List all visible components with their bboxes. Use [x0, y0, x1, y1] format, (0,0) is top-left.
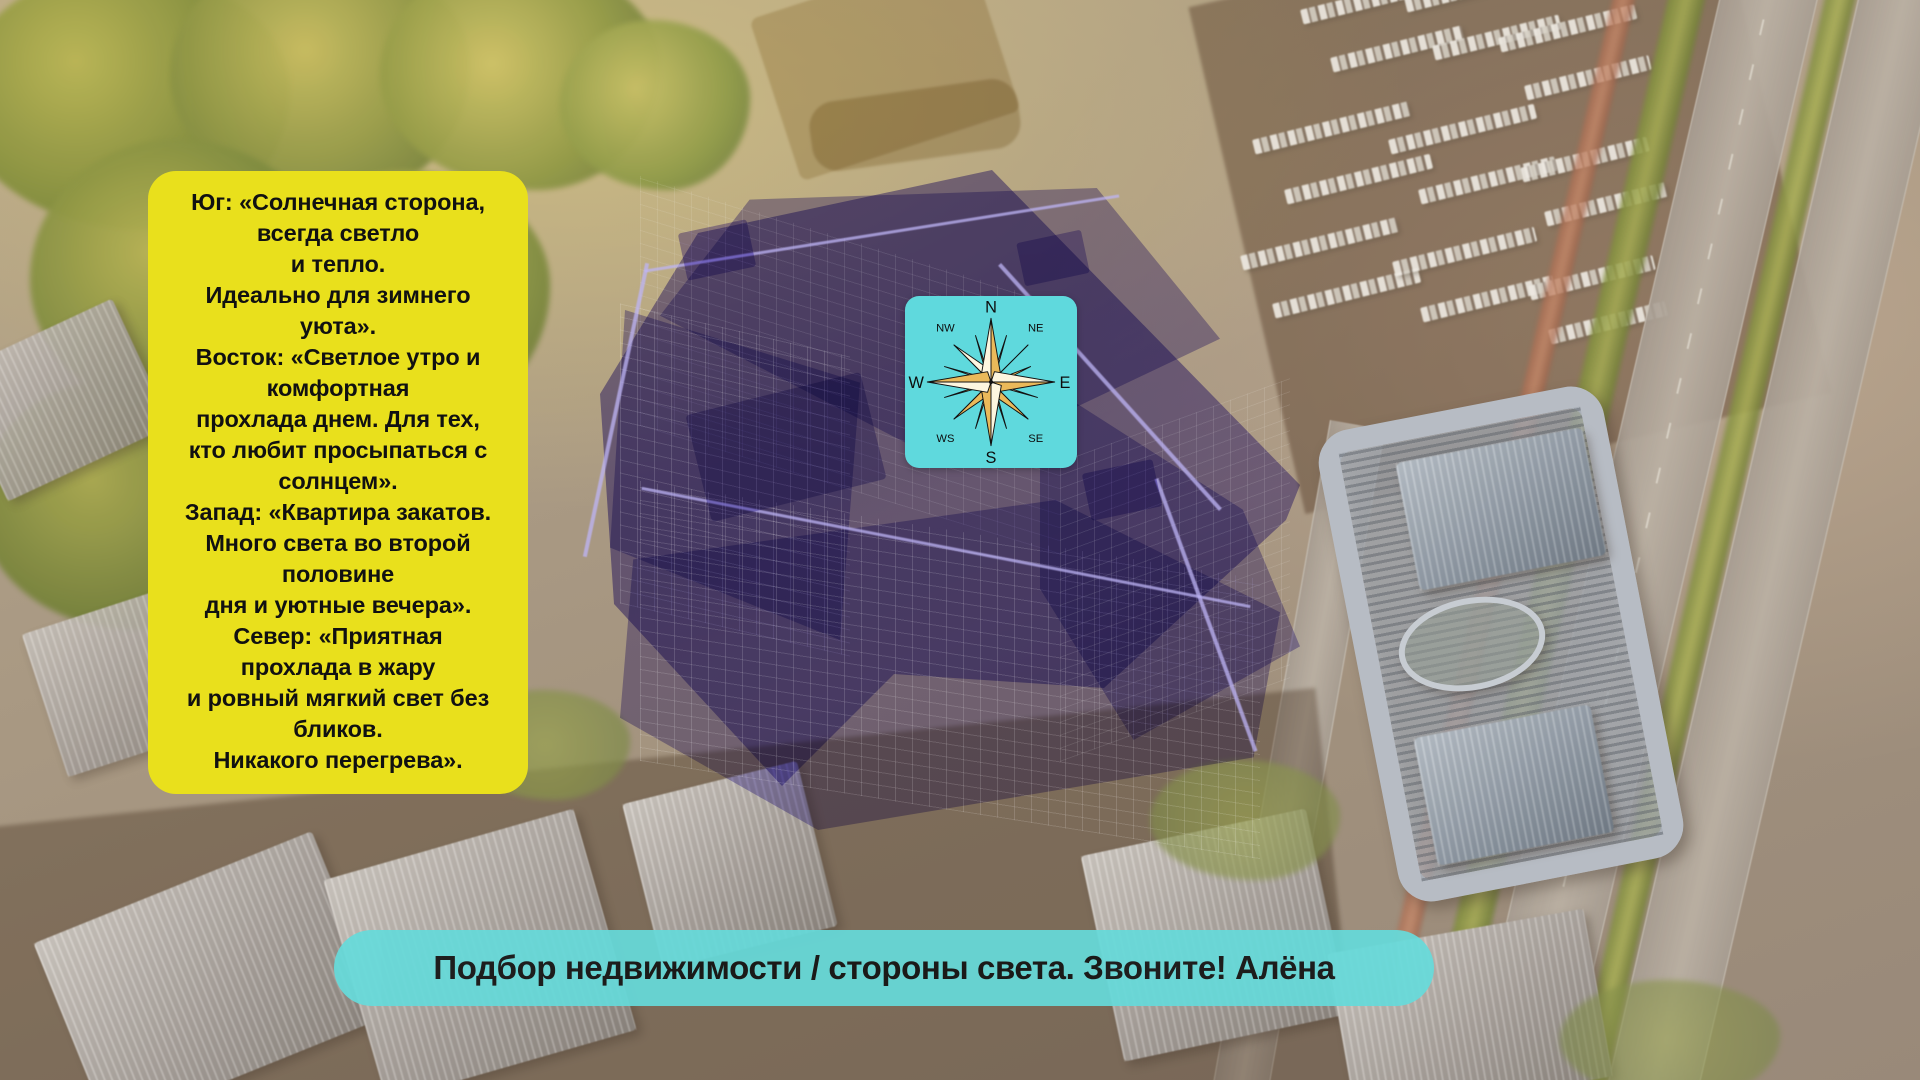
- callout-line: и тепло.: [162, 249, 514, 280]
- callout-line: Никакого перегрева».: [162, 745, 514, 776]
- compass-label-w: W: [908, 374, 924, 392]
- callout-line: Север: «Приятная: [162, 621, 514, 652]
- compass-label-se: SE: [1028, 433, 1043, 445]
- callout-line: комфортная: [162, 373, 514, 404]
- callout-line: прохлада днем. Для тех,: [162, 404, 514, 435]
- cta-banner-text: Подбор недвижимости / стороны света. Зво…: [433, 949, 1334, 987]
- callout-line: бликов.: [162, 714, 514, 745]
- compass-rose-widget: N S E W NE NW SE WS: [905, 296, 1077, 468]
- callout-line: половине: [162, 559, 514, 590]
- callout-line: Восток: «Светлое утро и: [162, 342, 514, 373]
- callout-line: всегда светло: [162, 218, 514, 249]
- compass-label-n: N: [985, 298, 997, 316]
- compass-label-ne: NE: [1028, 322, 1044, 334]
- compass-label-nw: NW: [936, 322, 955, 334]
- callout-line: кто любит просыпаться с: [162, 435, 514, 466]
- compass-rose-icon: N S E W NE NW SE WS: [905, 296, 1077, 468]
- promo-canvas: Юг: «Солнечная сторона, всегда светло и …: [0, 0, 1920, 1080]
- callout-line: Много света во второй: [162, 528, 514, 559]
- lawn-patch: [1560, 980, 1780, 1080]
- compass-label-e: E: [1060, 374, 1071, 392]
- callout-line: и ровный мягкий свет без: [162, 683, 514, 714]
- callout-line: прохлада в жару: [162, 652, 514, 683]
- cta-banner[interactable]: Подбор недвижимости / стороны света. Зво…: [334, 930, 1434, 1006]
- compass-label-ws: WS: [936, 433, 954, 445]
- callout-line: Юг: «Солнечная сторона,: [162, 187, 514, 218]
- callout-line: солнцем».: [162, 466, 514, 497]
- callout-line: уюта».: [162, 311, 514, 342]
- highlighted-building-overlay: [600, 170, 1300, 870]
- callout-line: Запад: «Квартира закатов.: [162, 497, 514, 528]
- callout-line: Идеально для зимнего: [162, 280, 514, 311]
- callout-line: дня и уютные вечера».: [162, 590, 514, 621]
- compass-label-s: S: [986, 449, 997, 467]
- callout-card: Юг: «Солнечная сторона, всегда светло и …: [148, 171, 528, 794]
